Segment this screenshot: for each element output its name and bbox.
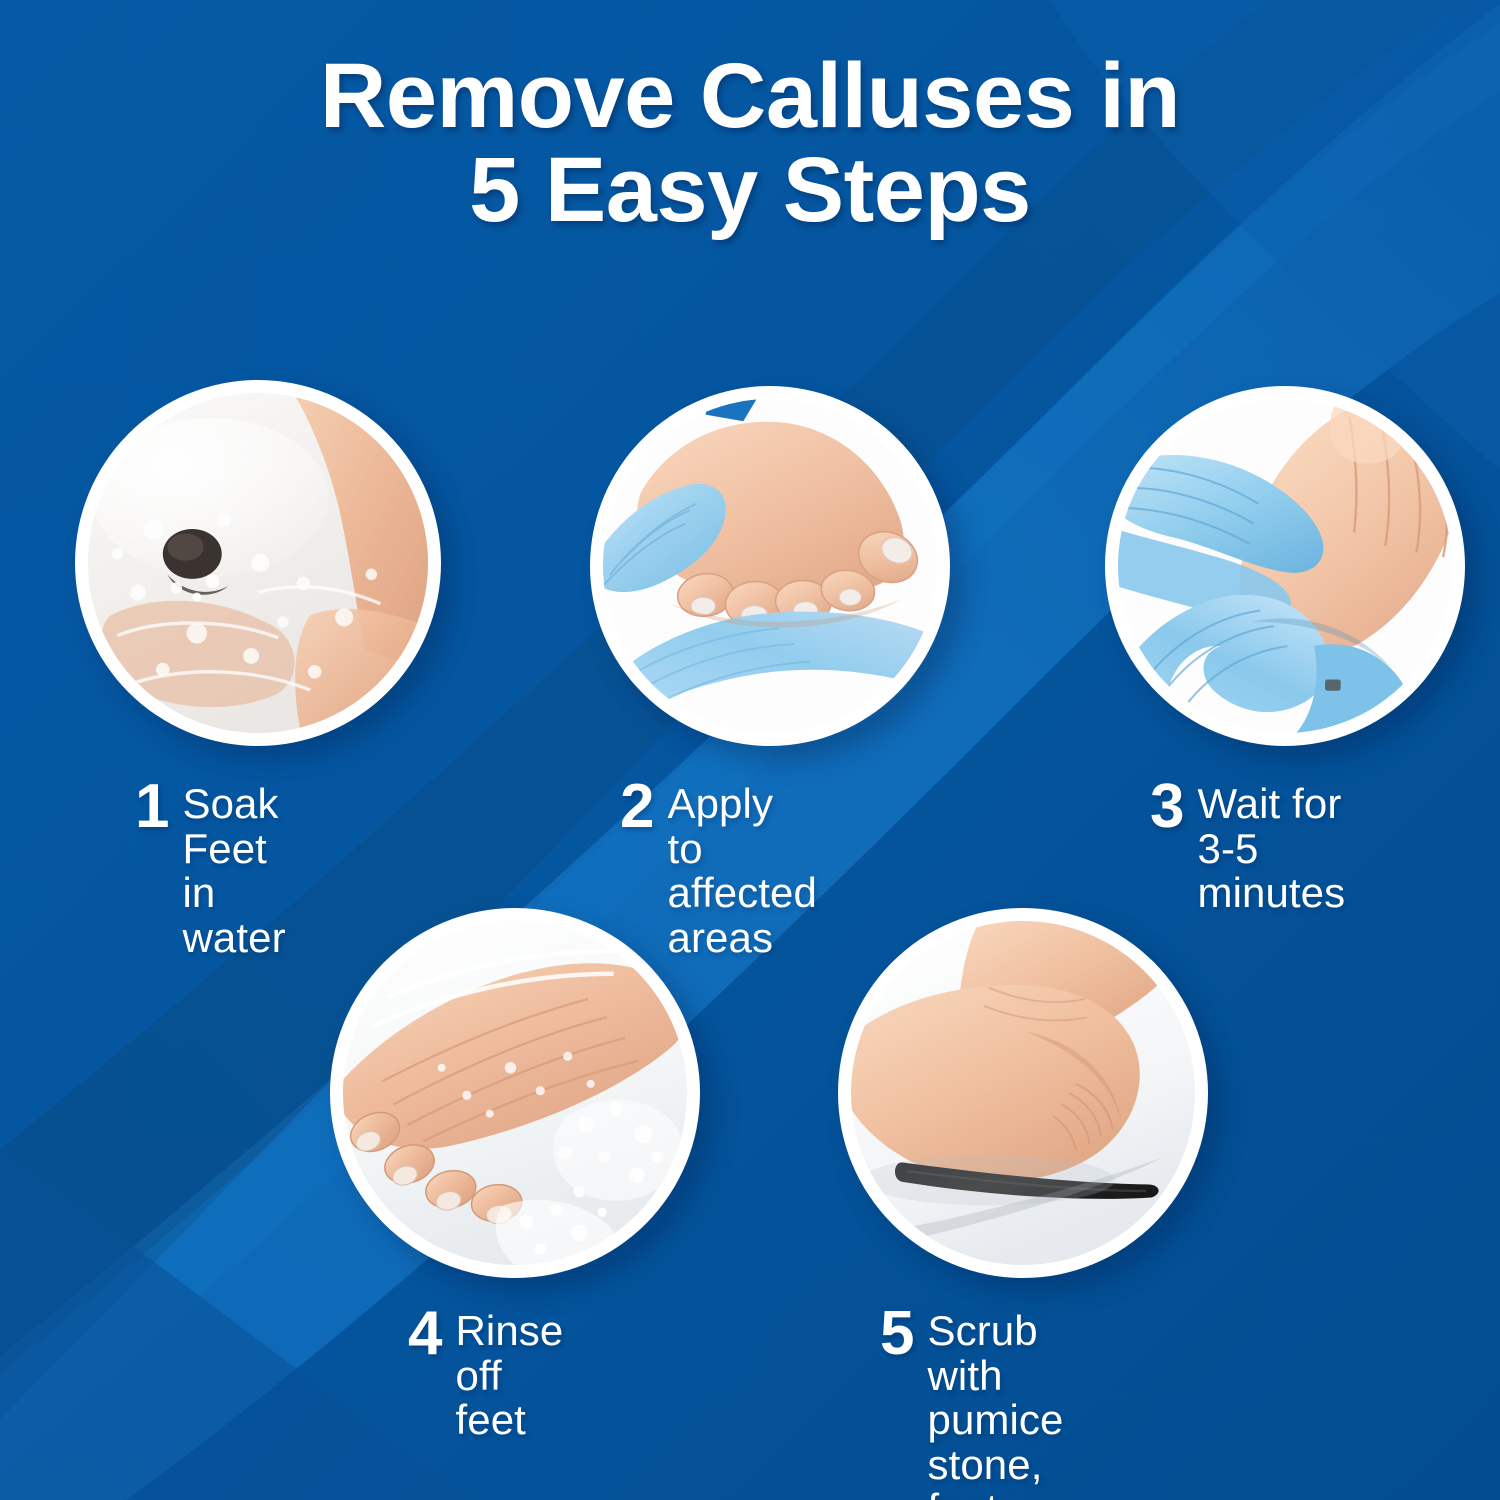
step-2-number: 2	[620, 778, 654, 837]
feet-soaking-in-water-basin-image	[88, 393, 428, 733]
step-5-photo-frame	[838, 908, 1208, 1278]
title-line-1: Remove Calluses in	[0, 52, 1500, 140]
step-3-number: 3	[1150, 778, 1184, 837]
step-4-photo-frame	[330, 908, 700, 1278]
step-3-label: Wait for 3-5 minutes	[1197, 778, 1345, 916]
step-5-caption: 5 Scrub with pumice stone, foot file, or…	[880, 1305, 1063, 1500]
gloved-hands-applying-to-foot-image	[603, 399, 937, 733]
step-1-label: Soak Feet in water	[182, 778, 285, 960]
step-5-number: 5	[880, 1305, 914, 1364]
step-4-label: Rinse off feet	[455, 1305, 563, 1443]
poster-root: Remove Calluses in 5 Easy Steps	[0, 0, 1500, 1500]
page-title: Remove Calluses in 5 Easy Steps	[0, 52, 1500, 235]
step-2-label: Apply to affected areas	[667, 778, 816, 960]
heel-with-foot-file-rasp-image	[851, 921, 1195, 1265]
step-3-photo-frame	[1105, 386, 1465, 746]
gloved-hands-holding-foot-waiting-image	[1118, 399, 1452, 733]
title-line-2: 5 Easy Steps	[0, 146, 1500, 234]
foot-rinsed-under-running-water-image	[343, 921, 687, 1265]
step-3-caption: 3 Wait for 3-5 minutes	[1150, 778, 1345, 916]
step-1-number: 1	[135, 778, 169, 837]
step-4-number: 4	[408, 1305, 442, 1364]
step-1-photo-frame	[75, 380, 441, 746]
step-2-photo-frame	[590, 386, 950, 746]
step-4-caption: 4 Rinse off feet	[408, 1305, 563, 1443]
step-2-caption: 2 Apply to affected areas	[620, 778, 817, 960]
step-5-label: Scrub with pumice stone, foot file, or r…	[927, 1305, 1063, 1500]
step-1-caption: 1 Soak Feet in water	[135, 778, 286, 960]
